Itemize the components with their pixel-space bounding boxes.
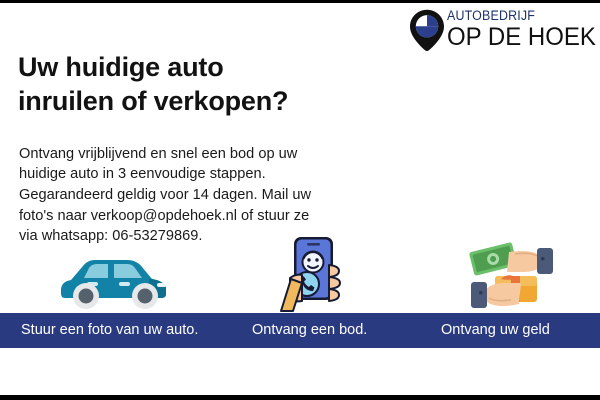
steps-caption-bar: Stuur een foto van uw auto. Ontvang een … xyxy=(0,313,600,348)
step-2-caption: Ontvang een bod. xyxy=(252,313,367,348)
car-icon xyxy=(53,246,173,314)
headline-line-1: Uw huidige auto xyxy=(18,50,398,84)
money-exchange-icon xyxy=(461,234,565,314)
brand-name-top: AUTOBEDRIJF xyxy=(447,9,590,23)
body-line-1: Ontvang vrijblijvend en snel een bod op … xyxy=(19,144,344,165)
brand-name-bottom: OP DE HOEK xyxy=(447,25,596,50)
brand-logo: AUTOBEDRIJF OP DE HOEK xyxy=(409,8,595,52)
step-1-artwork xyxy=(28,232,198,314)
step-3-caption: Ontvang uw geld xyxy=(441,313,550,348)
step-2-artwork xyxy=(248,232,378,314)
page-title: Uw huidige auto inruilen of verkopen? xyxy=(18,50,398,119)
body-line-4: foto's naar verkoop@opdehoek.nl of stuur… xyxy=(19,206,344,227)
phone-in-hand-icon xyxy=(273,234,353,314)
headline-line-2: inruilen of verkopen? xyxy=(18,84,398,118)
body-line-3: Gegarandeerd geldig voor 14 dagen. Mail … xyxy=(19,185,344,206)
map-pin-icon xyxy=(409,9,445,51)
step-3-artwork xyxy=(430,232,595,314)
steps-illustration-row xyxy=(0,232,600,314)
top-rule xyxy=(0,0,600,3)
brand-wordmark: AUTOBEDRIJF OP DE HOEK xyxy=(447,8,600,50)
body-line-2: huidige auto in 3 eenvoudige stappen. xyxy=(19,164,344,185)
advert-poster: AUTOBEDRIJF OP DE HOEK Uw huidige auto i… xyxy=(0,0,600,400)
step-1-caption: Stuur een foto van uw auto. xyxy=(21,313,198,348)
bottom-rule xyxy=(0,395,600,400)
